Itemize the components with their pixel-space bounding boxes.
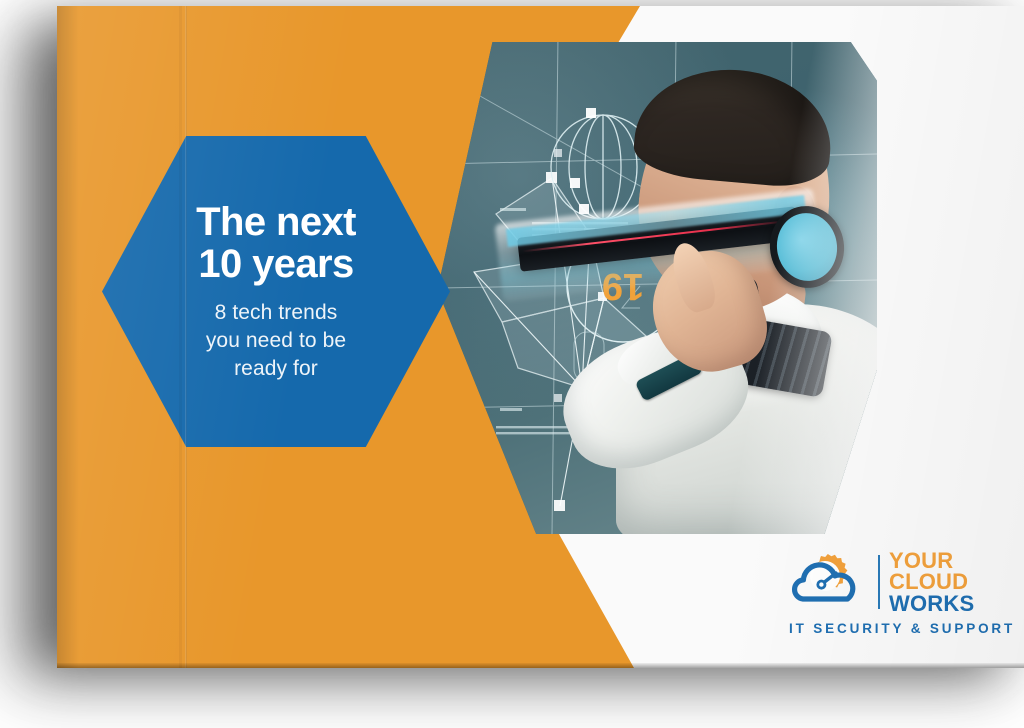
logo-tagline: IT SECURITY & SUPPORT	[789, 621, 989, 636]
ebook-cover: 19	[57, 6, 1024, 668]
subheadline-line-1: 8 tech trends	[206, 299, 346, 327]
cloud-gear-glyph	[789, 553, 869, 611]
cover-headline: The next 10 years	[196, 201, 356, 286]
logo-divider	[878, 555, 880, 609]
logo-word-cloud: CLOUD	[889, 571, 974, 592]
subheadline-line-3: ready for	[206, 355, 346, 383]
hair	[631, 62, 836, 191]
logo-word-your: YOUR	[889, 550, 974, 571]
cover-subheadline: 8 tech trends you need to be ready for	[206, 299, 346, 382]
logo-word-works: WORKS	[889, 593, 974, 614]
logo-wordmark: YOUR CLOUD WORKS	[889, 550, 974, 614]
screenshot-stage: 19	[0, 0, 1024, 728]
brand-logo: YOUR CLOUD WORKS IT SECURITY & SUPPORT	[789, 550, 989, 640]
cloud-gear-icon	[789, 553, 869, 611]
logo-row: YOUR CLOUD WORKS	[789, 550, 989, 614]
headline-line-1: The next	[196, 201, 356, 243]
headline-line-2: 10 years	[196, 243, 356, 285]
subheadline-line-2: you need to be	[206, 327, 346, 355]
